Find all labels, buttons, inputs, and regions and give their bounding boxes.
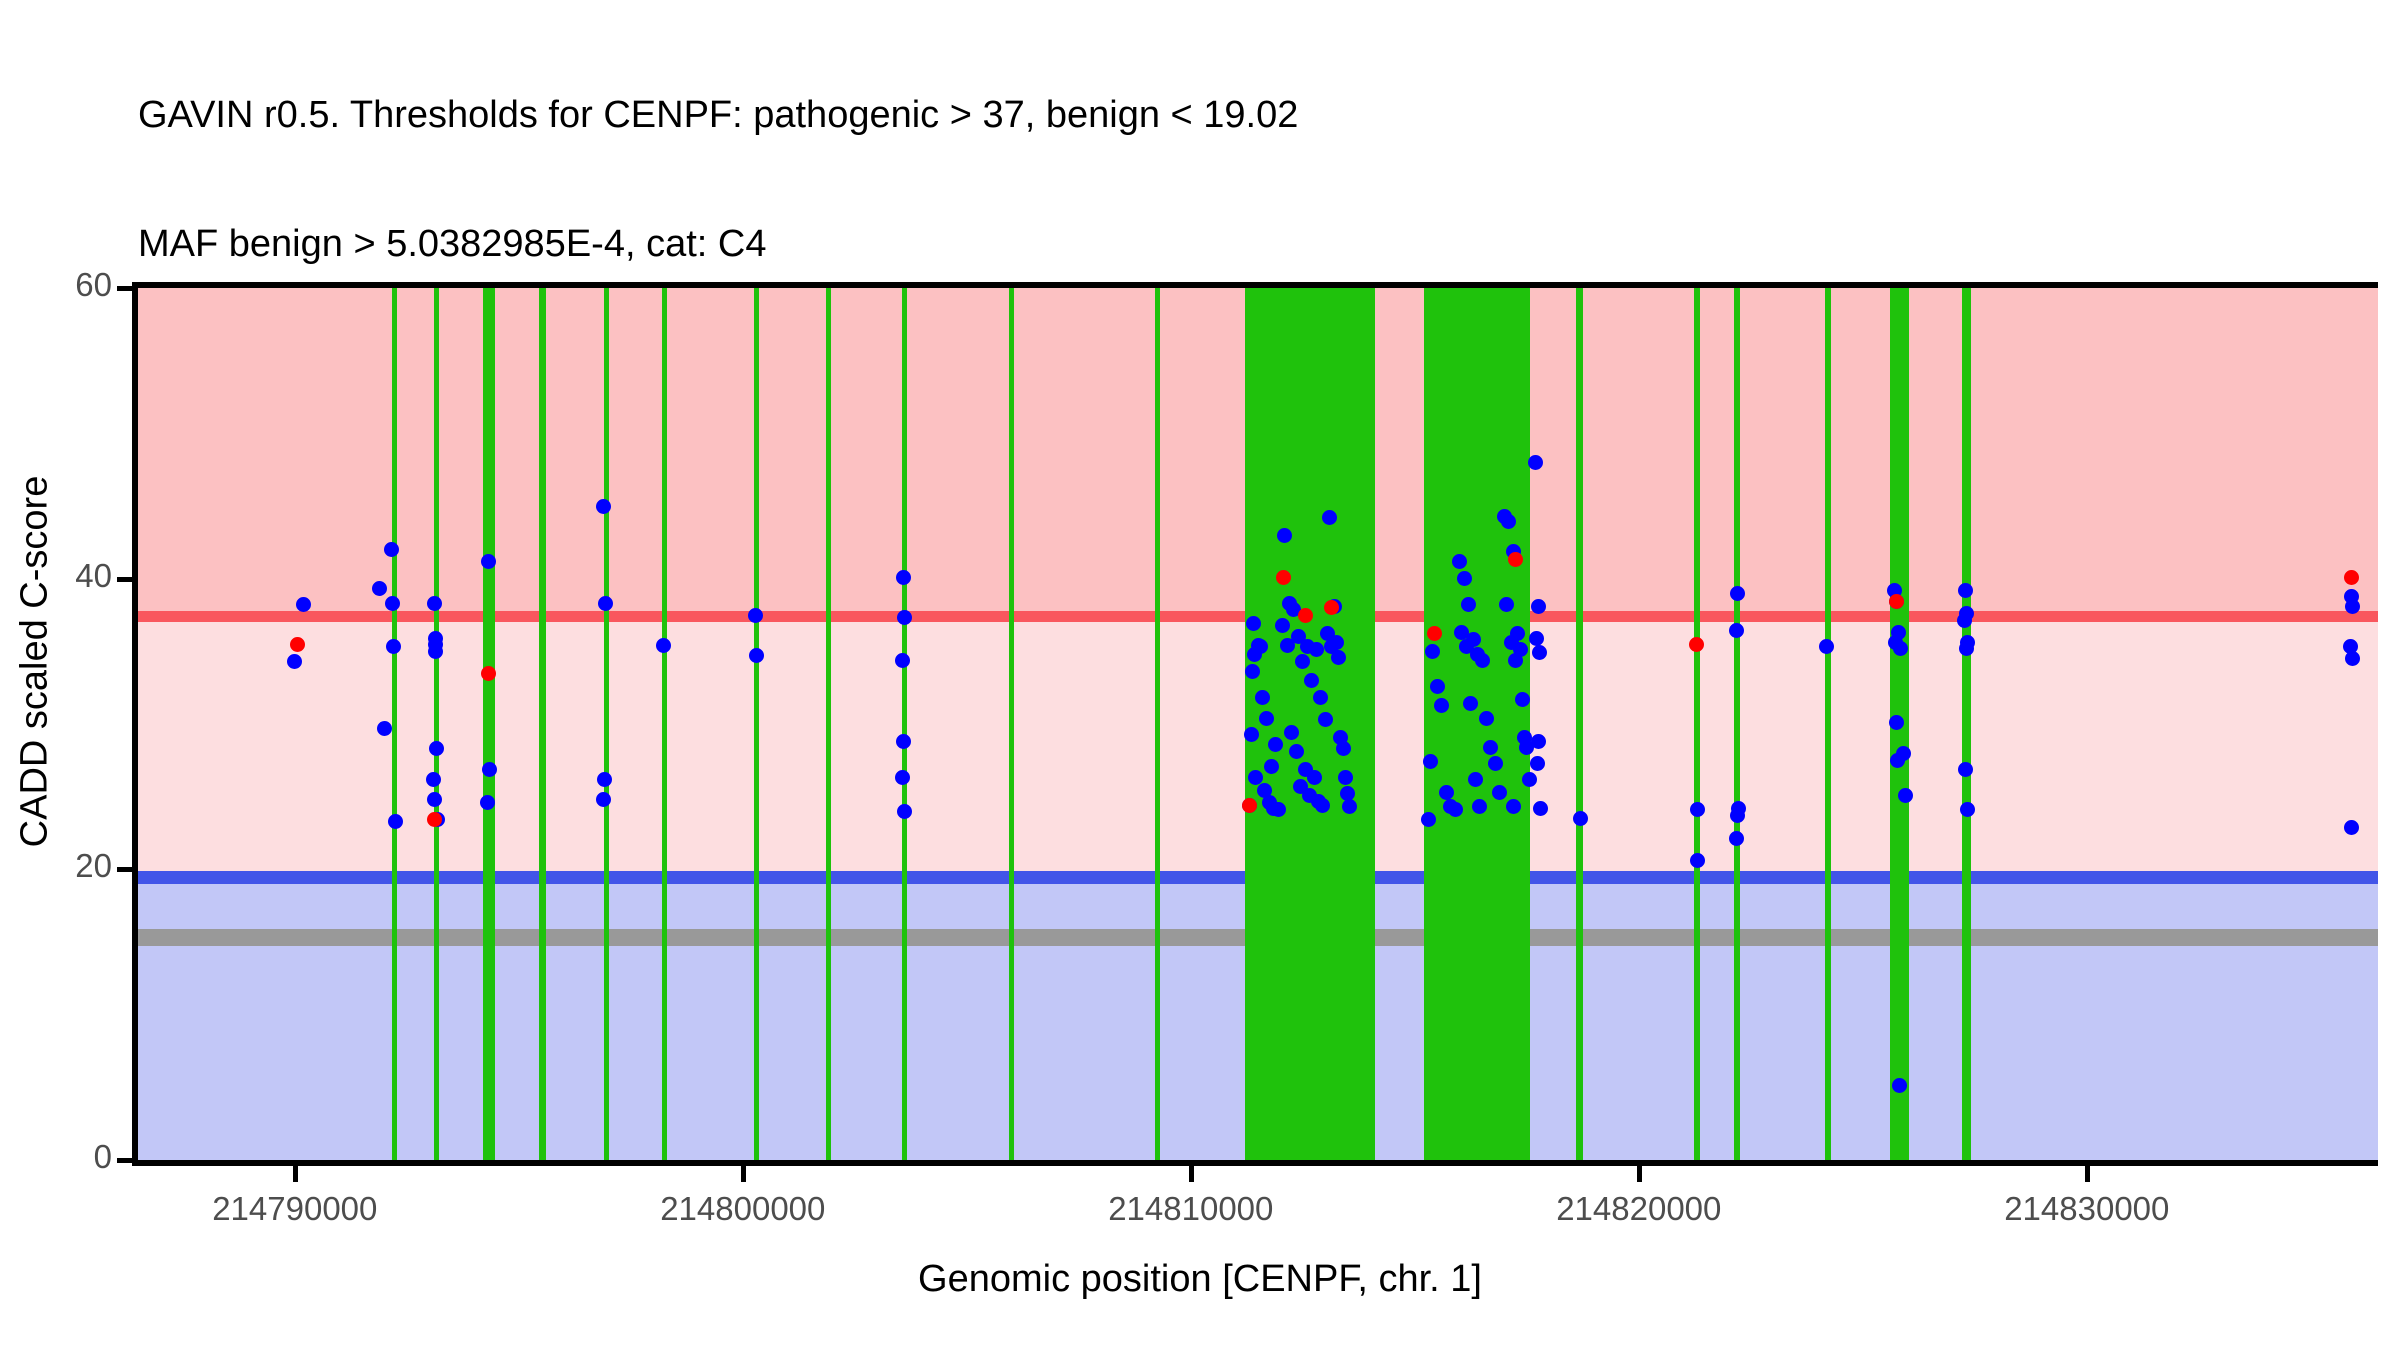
- gnomad-variant-point: [596, 499, 611, 514]
- gnomad-variant-point: [897, 804, 912, 819]
- gnomad-variant-point: [377, 721, 392, 736]
- gnomad-variant-point: [1530, 756, 1545, 771]
- gnomad-variant-point: [1439, 785, 1454, 800]
- gnomad-variant-point: [1531, 599, 1546, 614]
- plot-area: [138, 288, 2378, 1160]
- title-line-2: MAF benign > 5.0382985E-4, cat: C4: [138, 223, 2338, 266]
- gnomad-variant-point: [1318, 712, 1333, 727]
- gnomad-variant-point: [1468, 772, 1483, 787]
- clinvar-pathogenic-point: [1298, 608, 1313, 623]
- gnomad-variant-point: [1289, 744, 1304, 759]
- gnomad-variant-point: [1280, 638, 1295, 653]
- x-axis-tick: [293, 1166, 298, 1182]
- clinvar-pathogenic-point: [2344, 570, 2359, 585]
- refseq-exon-bar: [1694, 288, 1699, 1160]
- refseq-exon-bar: [1734, 288, 1740, 1160]
- x-axis-tick: [1637, 1166, 1642, 1182]
- gnomad-variant-point: [1958, 762, 1973, 777]
- gnomad-variant-point: [598, 596, 613, 611]
- gnomad-variant-point: [1529, 631, 1544, 646]
- refseq-exon-bar: [1424, 288, 1531, 1160]
- gnomad-variant-point: [2344, 820, 2359, 835]
- x-axis-tick-label: 214820000: [1489, 1190, 1789, 1228]
- y-axis-tick-label: 60: [0, 266, 112, 304]
- gnomad-variant-point: [480, 795, 495, 810]
- gnomad-variant-point: [1307, 770, 1322, 785]
- title-line-1: GAVIN r0.5. Thresholds for CENPF: pathog…: [138, 94, 2338, 137]
- gnomad-variant-point: [1488, 756, 1503, 771]
- gnomad-variant-point: [1331, 650, 1346, 665]
- refseq-exon-bar: [826, 288, 831, 1160]
- y-axis-tick: [117, 286, 133, 291]
- gnomad-variant-point: [384, 542, 399, 557]
- gnomad-variant-point: [1275, 618, 1290, 633]
- x-axis-label: Genomic position [CENPF, chr. 1]: [0, 1258, 2400, 1301]
- refseq-exon-bar: [483, 288, 496, 1160]
- refseq-exon-bar: [902, 288, 907, 1160]
- gnomad-variant-point: [896, 734, 911, 749]
- gnomad-variant-point: [385, 596, 400, 611]
- refseq-exon-bar: [1825, 288, 1831, 1160]
- x-axis-tick: [1189, 1166, 1194, 1182]
- refseq-exon-bar: [754, 288, 759, 1160]
- gnomad-variant-point: [1730, 586, 1745, 601]
- gnomad-variant-point: [897, 610, 912, 625]
- clinvar-pathogenic-point: [1689, 637, 1704, 652]
- refseq-exon-bar: [1009, 288, 1014, 1160]
- gnomad-variant-point: [481, 554, 496, 569]
- gnomad-variant-point: [388, 814, 403, 829]
- gnomad-variant-point: [1522, 772, 1537, 787]
- refseq-exon-bar: [1962, 288, 1971, 1160]
- x-axis-tick: [741, 1166, 746, 1182]
- gnomad-variant-point: [482, 762, 497, 777]
- gnomad-variant-point: [427, 792, 442, 807]
- gnomad-variant-point: [1457, 571, 1472, 586]
- gavin-variant-plot: GAVIN r0.5. Thresholds for CENPF: pathog…: [0, 0, 2400, 1350]
- clinvar-pathogenic-point: [481, 666, 496, 681]
- gnomad-variant-point: [1479, 711, 1494, 726]
- y-axis-tick: [117, 867, 133, 872]
- refseq-exon-bar: [604, 288, 609, 1160]
- gnomad-variant-point: [429, 741, 444, 756]
- gnomad-variant-point: [1690, 802, 1705, 817]
- gnomad-variant-point: [1264, 759, 1279, 774]
- x-axis-tick: [2085, 1166, 2090, 1182]
- x-axis-tick-label: 214800000: [593, 1190, 893, 1228]
- gnomad-variant-point: [1898, 788, 1913, 803]
- clinvar-pathogenic-point: [290, 637, 305, 652]
- refseq-exon-bar: [1155, 288, 1160, 1160]
- gnomad-variant-point: [1531, 734, 1546, 749]
- refseq-exon-bar: [434, 288, 439, 1160]
- gnomad-variant-point: [1244, 727, 1259, 742]
- gnomad-variant-point: [1533, 801, 1548, 816]
- gnomad-variant-point: [1448, 802, 1463, 817]
- plot-panel: [138, 288, 2378, 1160]
- refseq-exon-bar: [662, 288, 667, 1160]
- gnomad-variant-point: [896, 570, 911, 585]
- gnomad-variant-point: [1336, 741, 1351, 756]
- gnomad-variant-point: [597, 772, 612, 787]
- gnomad-variant-point: [427, 596, 442, 611]
- gnomad-variant-point: [1959, 641, 1974, 656]
- refseq-exon-bar: [539, 288, 546, 1160]
- gnomad-variant-point: [1475, 653, 1490, 668]
- gnomad-variant-point: [1960, 802, 1975, 817]
- gnomad-variant-point: [1890, 753, 1905, 768]
- gnomad-variant-point: [1271, 802, 1286, 817]
- x-axis-line: [132, 1160, 2378, 1166]
- gnomad-variant-point: [428, 644, 443, 659]
- y-axis-tick-label: 0: [0, 1138, 112, 1176]
- x-axis-tick-label: 214810000: [1041, 1190, 1341, 1228]
- gnomad-variant-point: [426, 772, 441, 787]
- gnomad-variant-point: [1434, 698, 1449, 713]
- gnomad-variant-point: [1430, 679, 1445, 694]
- y-axis-label: CADD scaled C-score: [14, 362, 57, 962]
- gnomad-variant-point: [1515, 692, 1530, 707]
- gnomad-variant-point: [895, 653, 910, 668]
- x-axis-tick-label: 214830000: [1937, 1190, 2237, 1228]
- gnomad-variant-point: [1452, 554, 1467, 569]
- gnomad-variant-point: [2345, 599, 2360, 614]
- gnomad-variant-point: [748, 608, 763, 623]
- x-axis-tick-label: 214790000: [145, 1190, 445, 1228]
- refseq-exon-bar: [392, 288, 397, 1160]
- y-axis-tick: [117, 1158, 133, 1163]
- gnomad-variant-point: [1425, 644, 1440, 659]
- refseq-exon-bar: [1576, 288, 1583, 1160]
- gnomad-variant-point: [1508, 653, 1523, 668]
- gnomad-variant-point: [596, 792, 611, 807]
- y-axis-tick: [117, 577, 133, 582]
- gnomad-variant-point: [1277, 528, 1292, 543]
- gnomad-variant-point: [1573, 811, 1588, 826]
